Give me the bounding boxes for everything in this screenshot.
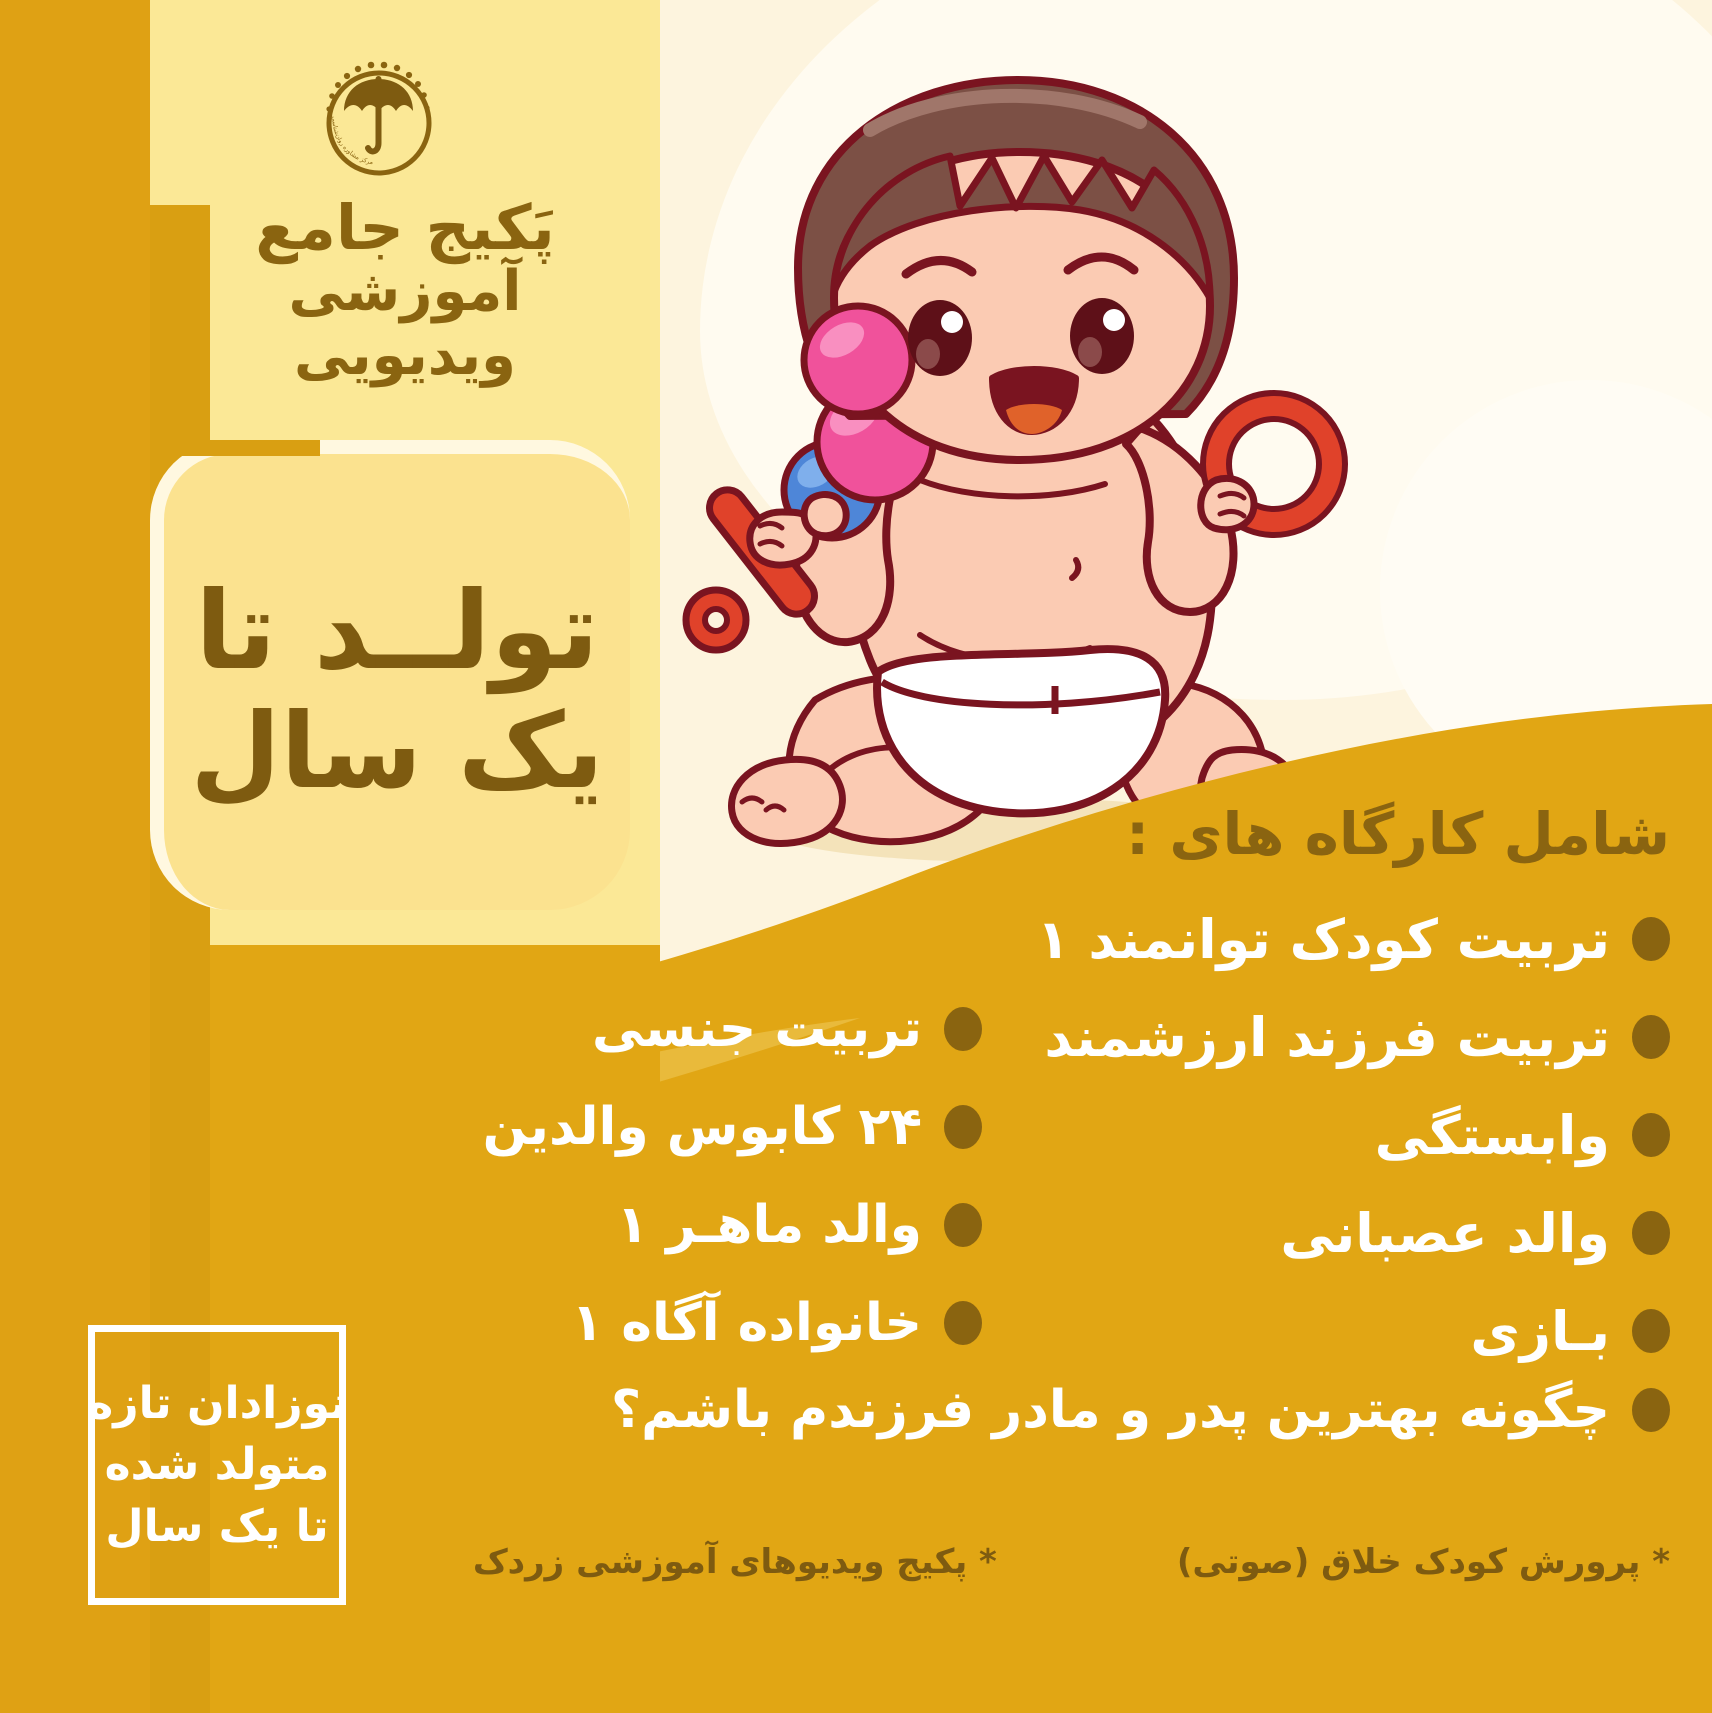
badge-line-3: تا یک سال [105,1503,328,1551]
poster-root: مرکز مشاوره روان‌شناسی و مشاوره خانواده … [0,0,1712,1713]
workshop-label: تربیت فرزند ارزشمند [1044,1006,1610,1069]
logo-ring-text: مرکز مشاوره روان‌شناسی و مشاوره خانواده [311,51,374,166]
workshop-label: تربیت کودک توانمند ۱ [1037,908,1610,971]
filled-circle-bullet-icon [1632,1309,1670,1353]
workshop-label: چگونه بهترین پدر و مادر فرزندم باشم؟ [611,1380,1610,1440]
workshop-label: بـازی [1470,1300,1610,1363]
footnote-item: * پرورش کودک خلاق (صوتی) [1177,1542,1670,1582]
footnotes: * پرورش کودک خلاق (صوتی) * پکیج ویدیوهای… [370,1542,1670,1582]
list-item: تربیت فرزند ارزشمند [1030,988,1670,1086]
list-item: تربیت جنسی [562,980,982,1078]
list-item: خانواده آگاه ۱ [562,1274,982,1372]
badge-line-1: نوزادان تازه [87,1380,346,1428]
workshop-label: والد ماهـر ۱ [616,1195,922,1255]
filled-circle-bullet-icon [944,1007,982,1051]
workshop-label: والد عصبانی [1280,1202,1610,1265]
title-card-inner: تولــد تا یک سال [164,454,630,910]
header-subtitle: پَکیج جامع آموزشی ویدیویی [190,195,620,389]
workshop-list-middle-column: تربیت جنسی ۲۴ کابوس والدین والد ماهـر ۱ … [562,980,982,1372]
footnote-item: * پکیج ویدیوهای آموزشی زردک [473,1542,997,1582]
workshop-wide-item: چگونه بهترین پدر و مادر فرزندم باشم؟ [611,1380,1670,1440]
page-title-line-1: تولــد تا [195,578,599,686]
svg-text:مرکز مشاوره روان‌شناسی و مشاور: مرکز مشاوره روان‌شناسی و مشاوره خانواده [311,51,374,166]
workshops-heading: شامل کارگاه های : [1126,800,1670,868]
filled-circle-bullet-icon [944,1203,982,1247]
workshop-label: ۲۴ کابوس والدین [483,1097,922,1157]
filled-circle-bullet-icon [1632,1015,1670,1059]
audience-badge: نوزادان تازه متولد شده تا یک سال [88,1325,346,1605]
filled-circle-bullet-icon [1632,1113,1670,1157]
list-item: تربیت کودک توانمند ۱ [1030,890,1670,988]
filled-circle-bullet-icon [1632,1388,1670,1432]
title-card: تولــد تا یک سال [150,440,630,910]
header-line-1: پَکیج جامع [190,195,620,260]
list-item: والد عصبانی [1030,1184,1670,1282]
list-item: بـازی [1030,1282,1670,1380]
header-line-2: آموزشی ویدیویی [190,260,620,389]
workshop-list-right-column: تربیت کودک توانمند ۱ تربیت فرزند ارزشمند… [1030,890,1670,1380]
list-item: ۲۴ کابوس والدین [562,1078,982,1176]
umbrella-family-seal-logo-icon: مرکز مشاوره روان‌شناسی و مشاوره خانواده [311,51,446,186]
list-item: وابستگی [1030,1086,1670,1184]
workshop-label: خانواده آگاه ۱ [571,1293,922,1353]
filled-circle-bullet-icon [944,1105,982,1149]
page-title-line-2: یک سال [190,686,603,816]
filled-circle-bullet-icon [944,1301,982,1345]
filled-circle-bullet-icon [1632,1211,1670,1255]
workshop-label: وابستگی [1375,1104,1610,1167]
workshop-label: تربیت جنسی [592,999,922,1059]
list-item: والد ماهـر ۱ [562,1176,982,1274]
badge-line-2: متولد شده [105,1441,330,1489]
filled-circle-bullet-icon [1632,917,1670,961]
